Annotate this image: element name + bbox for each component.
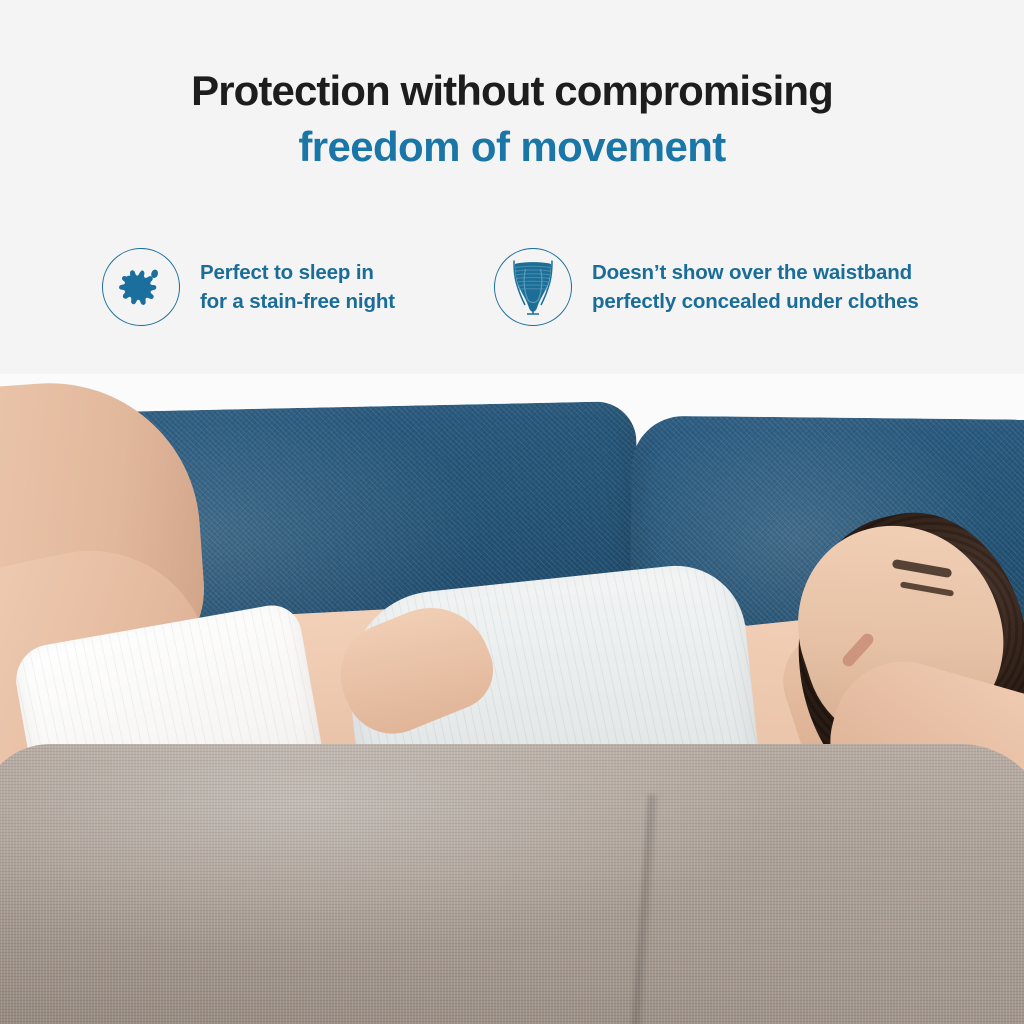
feature-text-concealed-line-2: perfectly concealed under clothes bbox=[592, 287, 919, 316]
feature-item-sleep: Perfect to sleep in for a stain-free nig… bbox=[102, 248, 395, 326]
feature-text-sleep: Perfect to sleep in for a stain-free nig… bbox=[200, 258, 395, 316]
underwear-brief-icon bbox=[494, 248, 572, 326]
feature-list: Perfect to sleep in for a stain-free nig… bbox=[0, 248, 1024, 343]
top-content-panel: Protection without compromising freedom … bbox=[0, 0, 1024, 378]
feature-text-sleep-line-1: Perfect to sleep in bbox=[200, 258, 395, 287]
feature-text-sleep-line-2: for a stain-free night bbox=[200, 287, 395, 316]
splash-stain-icon bbox=[102, 248, 180, 326]
lifestyle-photo bbox=[0, 374, 1024, 1024]
photo-scene bbox=[0, 374, 1024, 1024]
headline: Protection without compromising freedom … bbox=[0, 66, 1024, 171]
product-feature-banner: Protection without compromising freedom … bbox=[0, 0, 1024, 1024]
feature-item-concealed: Doesn’t show over the waistband perfectl… bbox=[494, 248, 919, 326]
headline-line-1: Protection without compromising bbox=[0, 66, 1024, 116]
sofa-seat-seam bbox=[632, 794, 659, 1024]
feature-text-concealed: Doesn’t show over the waistband perfectl… bbox=[592, 258, 919, 316]
feature-text-concealed-line-1: Doesn’t show over the waistband bbox=[592, 258, 919, 287]
sofa-seat bbox=[0, 744, 1024, 1024]
headline-line-2: freedom of movement bbox=[0, 122, 1024, 172]
